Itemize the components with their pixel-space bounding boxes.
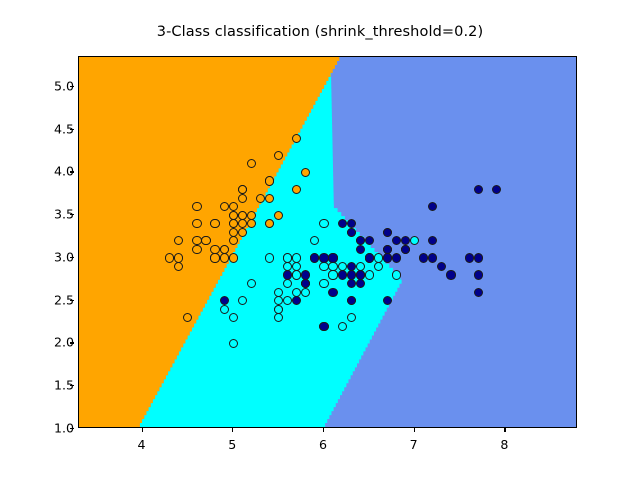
y-axis: 1.01.52.02.53.03.54.04.55.0 — [0, 56, 74, 428]
scatter-point — [347, 313, 356, 322]
scatter-point — [238, 219, 247, 228]
scatter-point — [256, 194, 265, 203]
y-tick-label: 3.5 — [30, 207, 74, 222]
scatter-point — [383, 228, 392, 237]
scatter-point — [392, 270, 401, 279]
scatter-point — [192, 202, 201, 211]
x-tick-label: 7 — [394, 437, 434, 452]
scatter-point — [301, 168, 310, 177]
y-tick-label: 4.5 — [30, 121, 74, 136]
scatter-point — [292, 296, 301, 305]
scatter-point — [220, 245, 229, 254]
scatter-point — [247, 219, 256, 228]
scatter-point — [319, 253, 328, 262]
scatter-point — [365, 253, 374, 262]
scatter-point — [265, 219, 274, 228]
chart-title: 3-Class classification (shrink_threshold… — [0, 24, 640, 40]
scatter-point — [274, 288, 283, 297]
scatter-point — [174, 253, 183, 262]
scatter-point — [465, 253, 474, 262]
x-tick-mark — [323, 428, 324, 432]
scatter-point — [474, 253, 483, 262]
scatter-point — [192, 219, 201, 228]
scatter-point — [356, 279, 365, 288]
x-tick-label: 6 — [303, 437, 343, 452]
scatter-point — [192, 245, 201, 254]
y-tick-mark — [70, 342, 74, 343]
scatter-point — [428, 253, 437, 262]
scatter-point — [347, 219, 356, 228]
scatter-point — [210, 253, 219, 262]
scatter-point — [301, 279, 310, 288]
scatter-point — [274, 296, 283, 305]
y-tick-label: 2.5 — [30, 292, 74, 307]
plot-area — [78, 56, 577, 428]
scatter-point — [229, 228, 238, 237]
scatter-point — [419, 253, 428, 262]
x-tick-mark — [142, 428, 143, 432]
x-tick-mark — [232, 428, 233, 432]
scatter-point — [265, 194, 274, 203]
y-tick-label: 3.0 — [30, 249, 74, 264]
scatter-point — [229, 219, 238, 228]
scatter-point — [383, 253, 392, 262]
scatter-point — [220, 253, 229, 262]
scatter-point — [292, 185, 301, 194]
scatter-point — [192, 236, 201, 245]
y-tick-label: 2.0 — [30, 335, 74, 350]
x-tick-label: 5 — [212, 437, 252, 452]
scatter-point — [474, 185, 483, 194]
scatter-point — [238, 228, 247, 237]
figure-canvas: 3-Class classification (shrink_threshold… — [0, 0, 640, 480]
y-tick-mark — [70, 428, 74, 429]
scatter-point — [383, 296, 392, 305]
x-tick-label: 8 — [484, 437, 524, 452]
scatter-point — [446, 270, 455, 279]
scatter-point — [310, 236, 319, 245]
scatter-point — [374, 262, 383, 271]
scatter-point — [229, 313, 238, 322]
scatter-point — [265, 176, 274, 185]
scatter-point — [347, 279, 356, 288]
x-tick-mark — [504, 428, 505, 432]
y-tick-mark — [70, 385, 74, 386]
scatter-point — [274, 151, 283, 160]
scatter-point — [229, 236, 238, 245]
scatter-point — [338, 322, 347, 331]
scatter-point — [392, 236, 401, 245]
scatter-point — [437, 262, 446, 271]
scatter-point — [347, 270, 356, 279]
x-tick-mark — [414, 428, 415, 432]
y-tick-label: 1.5 — [30, 378, 74, 393]
scatter-point — [274, 313, 283, 322]
scatter-point — [292, 270, 301, 279]
scatter-point — [365, 270, 374, 279]
scatter-point — [328, 253, 337, 262]
y-tick-mark — [70, 300, 74, 301]
scatter-point — [283, 253, 292, 262]
scatter-point — [283, 296, 292, 305]
scatter-point — [220, 296, 229, 305]
scatter-point — [392, 253, 401, 262]
y-tick-label: 5.0 — [30, 78, 74, 93]
y-tick-mark — [70, 86, 74, 87]
scatter-point — [283, 279, 292, 288]
y-tick-label: 1.0 — [30, 421, 74, 436]
scatter-point — [319, 219, 328, 228]
y-tick-mark — [70, 257, 74, 258]
scatter-point — [238, 185, 247, 194]
scatter-point — [319, 322, 328, 331]
scatter-point — [238, 194, 247, 203]
scatter-point — [428, 202, 437, 211]
scatter-point — [174, 262, 183, 271]
scatter-point — [220, 305, 229, 314]
scatter-point — [229, 202, 238, 211]
scatter-point — [356, 245, 365, 254]
scatter-point — [356, 270, 365, 279]
x-axis: 45678 — [78, 428, 577, 458]
scatter-point — [310, 253, 319, 262]
y-tick-label: 4.0 — [30, 164, 74, 179]
scatter-point — [474, 288, 483, 297]
scatter-point — [301, 288, 310, 297]
scatter-point — [428, 236, 437, 245]
scatter-point — [229, 253, 238, 262]
scatter-point — [292, 134, 301, 143]
scatter-point — [338, 270, 347, 279]
scatter-point — [319, 279, 328, 288]
scatter-point — [328, 288, 337, 297]
scatter-point — [247, 279, 256, 288]
scatter-point — [338, 219, 347, 228]
scatter-point — [374, 253, 383, 262]
scatter-point — [283, 270, 292, 279]
y-tick-mark — [70, 214, 74, 215]
scatter-point — [492, 185, 501, 194]
scatter-point — [183, 313, 192, 322]
y-tick-mark — [70, 129, 74, 130]
scatter-point — [328, 270, 337, 279]
scatter-point — [165, 253, 174, 262]
scatter-point — [238, 296, 247, 305]
scatter-point — [247, 159, 256, 168]
x-tick-label: 4 — [122, 437, 162, 452]
scatter-point — [401, 245, 410, 254]
scatter-point — [229, 339, 238, 348]
y-tick-mark — [70, 171, 74, 172]
scatter-point — [274, 305, 283, 314]
scatter-point — [347, 228, 356, 237]
scatter-point — [210, 219, 219, 228]
scatter-point — [220, 202, 229, 211]
scatter-point — [265, 253, 274, 262]
scatter-point — [174, 236, 183, 245]
scatter-point — [365, 236, 374, 245]
scatter-point — [201, 236, 210, 245]
scatter-points-layer — [79, 57, 576, 427]
scatter-point — [229, 211, 238, 220]
scatter-point — [474, 270, 483, 279]
scatter-point — [274, 211, 283, 220]
scatter-point — [319, 262, 328, 271]
scatter-point — [347, 296, 356, 305]
scatter-point — [410, 236, 419, 245]
